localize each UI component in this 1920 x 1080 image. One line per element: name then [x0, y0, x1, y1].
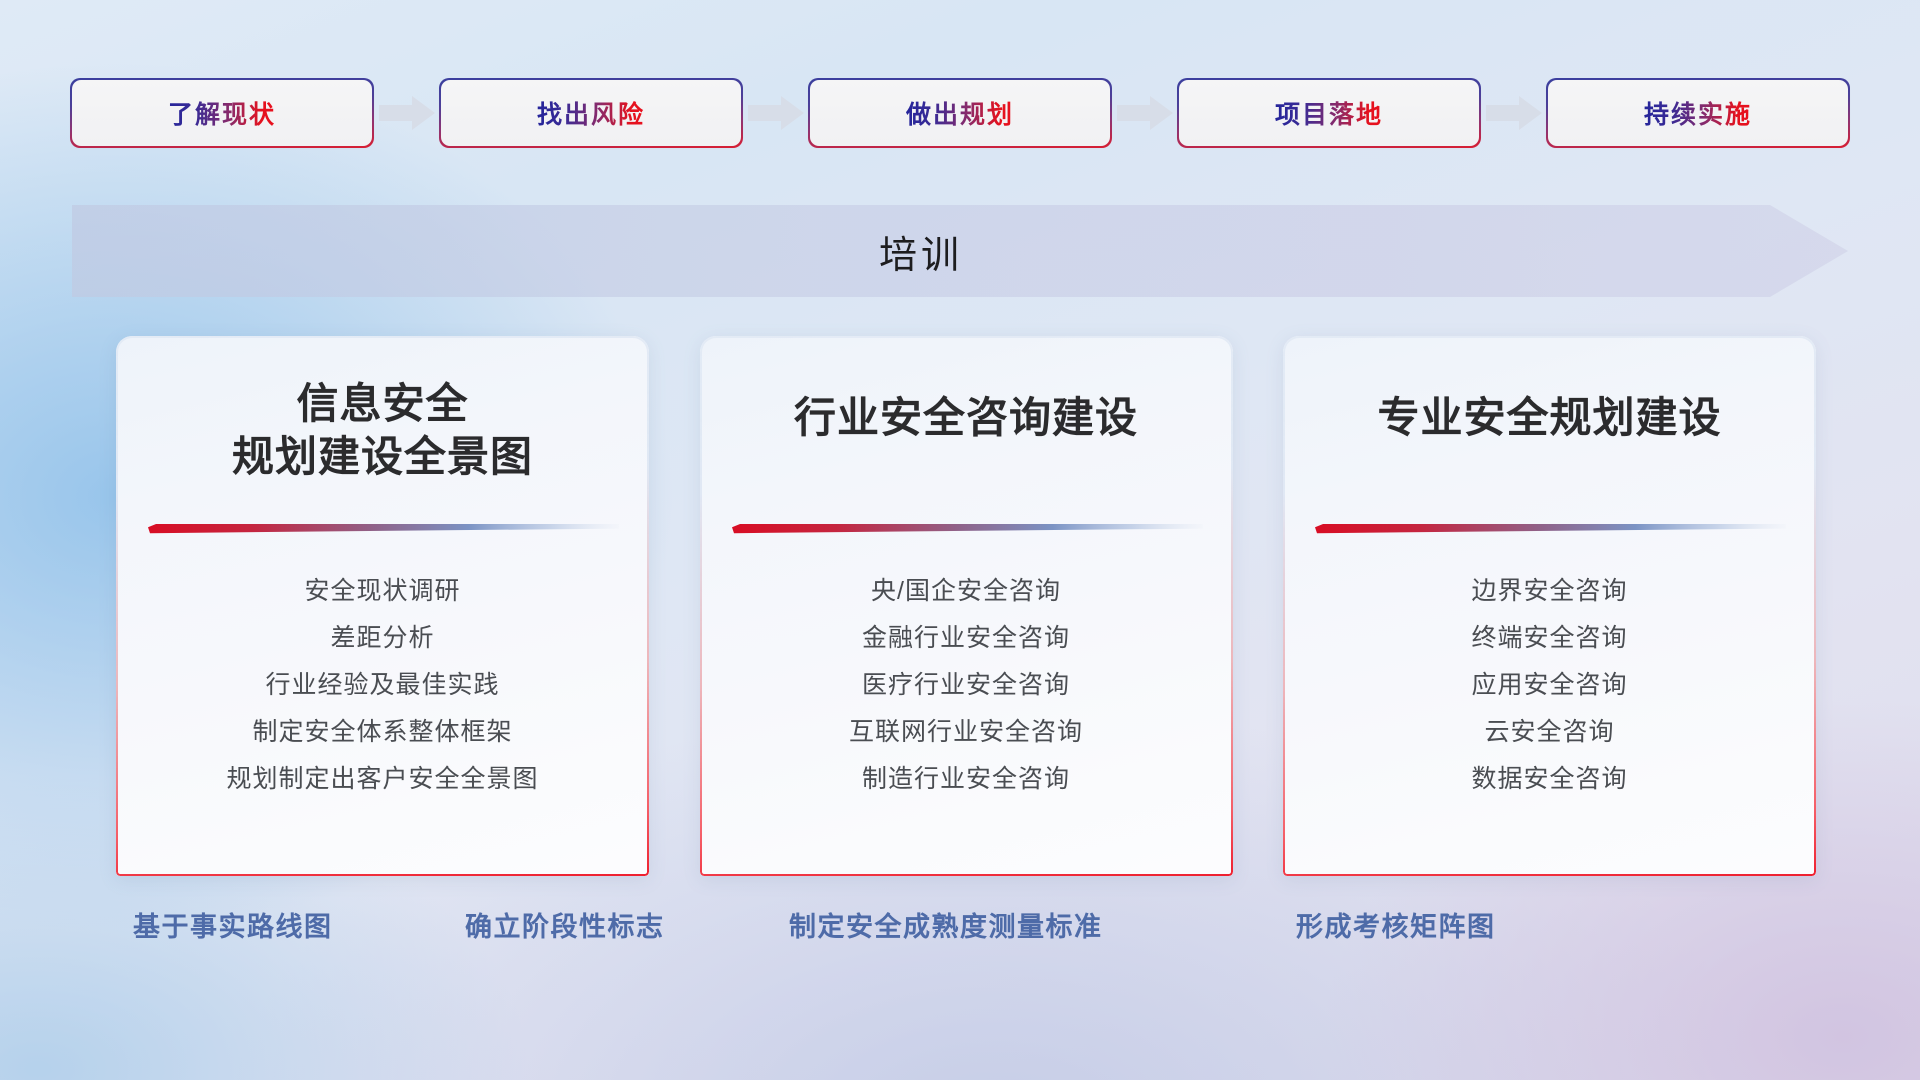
card-2[interactable]: 行业安全咨询建设	[700, 336, 1233, 876]
step-label-4: 项目落地	[1275, 95, 1383, 131]
card-1[interactable]: 信息安全 规划建设全景图	[116, 336, 649, 876]
step-connector-arrow-3	[1110, 96, 1179, 130]
card-column-1: 信息安全 规划建设全景图	[116, 336, 649, 876]
step-connector-arrow-1	[372, 96, 441, 130]
caption-2: 确立阶段性标志	[465, 905, 665, 944]
step-box-1[interactable]: 了解现状	[72, 80, 372, 146]
step-box-4[interactable]: 项目落地	[1179, 80, 1479, 146]
step-label-5: 持续实施	[1644, 95, 1752, 131]
caption-4: 形成考核矩阵图	[1296, 905, 1496, 944]
card-2-title-line1: 行业安全咨询建设	[728, 392, 1205, 445]
banner-title: 培训	[72, 205, 1770, 297]
card-1-title-line2: 规划建设全景图	[144, 431, 621, 484]
step-connector-arrow-2	[741, 96, 810, 130]
step-label-3: 做出规划	[906, 95, 1014, 131]
caption-3: 制定安全成熟度测量标准	[789, 905, 1103, 944]
step-label-1: 了解现状	[168, 95, 276, 131]
card-1-title-line1: 信息安全	[144, 378, 621, 431]
card-3-title-line1: 专业安全规划建设	[1311, 392, 1788, 445]
card-3[interactable]: 专业安全规划建设	[1283, 336, 1816, 876]
caption-1: 基于事实路线图	[133, 905, 333, 944]
card-column-3: 专业安全规划建设	[1283, 336, 1816, 876]
card-3-title: 专业安全规划建设	[1311, 392, 1788, 445]
card-2-title: 行业安全咨询建设	[728, 392, 1205, 445]
step-label-2: 找出风险	[537, 95, 645, 131]
process-step-row: 了解现状 找出风险 做出规划 项目落地	[72, 78, 1848, 148]
card-column-2: 行业安全咨询建设	[700, 336, 1233, 876]
step-box-3[interactable]: 做出规划	[810, 80, 1110, 146]
step-connector-arrow-4	[1479, 96, 1548, 130]
slide-canvas: 了解现状 找出风险 做出规划 项目落地	[0, 0, 1920, 1080]
training-banner: 培训	[72, 205, 1848, 297]
caption-row: 基于事实路线图 确立阶段性标志 制定安全成熟度测量标准 形成考核矩阵图	[0, 905, 1920, 965]
card-1-title: 信息安全 规划建设全景图	[144, 378, 621, 483]
step-box-5[interactable]: 持续实施	[1548, 80, 1848, 146]
card-row: 信息安全 规划建设全景图	[116, 336, 1816, 876]
step-box-2[interactable]: 找出风险	[441, 80, 741, 146]
